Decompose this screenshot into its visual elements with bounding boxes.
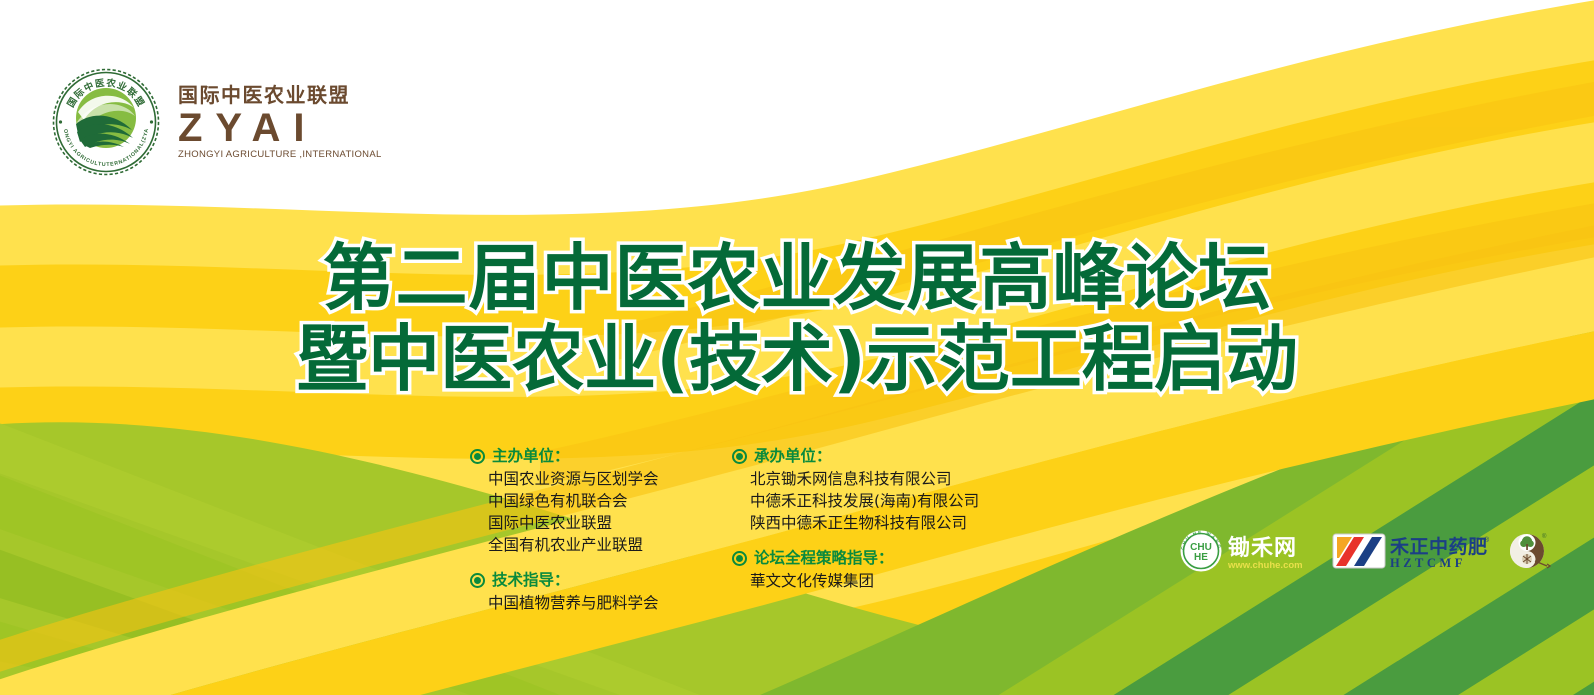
bullet-icon xyxy=(470,449,485,464)
info-column-left: 主办单位： 中国农业资源与区划学会 中国绿色有机联合会 国际中医农业联盟 全国有… xyxy=(470,446,732,614)
bullet-icon xyxy=(732,551,747,566)
logo-wordmark: 国际中医农业联盟 ZYAI ZHONGYI AGRICULTURE ,INTER… xyxy=(178,85,382,160)
info-item-list: 華文文化传媒集团 xyxy=(750,570,1032,592)
tree-yinyang-herbal-logo-icon: ® xyxy=(1506,528,1554,574)
info-group-strategy-guidance: 论坛全程策略指导： 華文文化传媒集团 xyxy=(732,548,1032,592)
svg-text:®: ® xyxy=(1484,536,1490,544)
svg-text:锄禾网: 锄禾网 xyxy=(1228,535,1297,561)
svg-text:HE: HE xyxy=(1194,552,1208,563)
sponsor-logos: CHU HE WANG CHU HE 锄禾网 www.chuhe.com 禾正中… xyxy=(1178,528,1554,574)
list-item: 陕西中德禾正生物科技有限公司 xyxy=(750,512,1032,534)
info-column-right: 承办单位： 北京锄禾网信息科技有限公司 中德禾正科技发展(海南)有限公司 陕西中… xyxy=(732,446,1032,614)
info-group-host: 主办单位： 中国农业资源与区划学会 中国绿色有机联合会 国际中医农业联盟 全国有… xyxy=(470,446,732,556)
list-item: 華文文化传媒集团 xyxy=(750,570,1032,592)
list-item: 中国绿色有机联合会 xyxy=(488,490,732,512)
svg-text:®: ® xyxy=(1542,533,1547,540)
event-banner: 国际中医农业联盟 ZHONGYI AGRICULTURE INTERNATION… xyxy=(0,0,1594,695)
info-item-list: 中国农业资源与区划学会 中国绿色有机联合会 国际中医农业联盟 全国有机农业产业联… xyxy=(488,468,732,556)
info-heading-label: 主办单位： xyxy=(492,446,570,467)
info-item-list: 中国植物营养与肥料学会 xyxy=(488,592,732,614)
zyai-seal-icon: 国际中医农业联盟 ZHONGYI AGRICULTURE INTERNATION… xyxy=(52,68,160,176)
info-heading-label: 技术指导： xyxy=(492,570,570,591)
info-heading: 承办单位： xyxy=(732,446,1032,467)
svg-text:www.chuhe.com: www.chuhe.com xyxy=(1227,560,1303,571)
bullet-icon xyxy=(470,573,485,588)
info-heading: 技术指导： xyxy=(470,570,732,591)
list-item: 全国有机农业产业联盟 xyxy=(488,534,732,556)
list-item: 中国植物营养与肥料学会 xyxy=(488,592,732,614)
logo-name-cn: 国际中医农业联盟 xyxy=(178,85,382,105)
logo-name-en: ZHONGYI AGRICULTURE ,INTERNATIONAL xyxy=(178,150,382,160)
organizer-info: 主办单位： 中国农业资源与区划学会 中国绿色有机联合会 国际中医农业联盟 全国有… xyxy=(470,446,1032,614)
info-heading: 论坛全程策略指导： xyxy=(732,548,1032,569)
list-item: 中国农业资源与区划学会 xyxy=(488,468,732,490)
info-group-organizer: 承办单位： 北京锄禾网信息科技有限公司 中德禾正科技发展(海南)有限公司 陕西中… xyxy=(732,446,1032,534)
hezheng-tcmf-logo-icon: 禾正中药肥 ® HZTCMF xyxy=(1332,528,1492,574)
info-item-list: 北京锄禾网信息科技有限公司 中德禾正科技发展(海南)有限公司 陕西中德禾正生物科… xyxy=(750,468,1032,534)
organization-logo: 国际中医农业联盟 ZHONGYI AGRICULTURE INTERNATION… xyxy=(52,68,382,176)
svg-text:HZTCMF: HZTCMF xyxy=(1390,556,1466,570)
chuhe-wang-logo-icon: CHU HE WANG CHU HE 锄禾网 www.chuhe.com xyxy=(1178,528,1318,574)
info-group-technical-guidance: 技术指导： 中国植物营养与肥料学会 xyxy=(470,570,732,614)
list-item: 北京锄禾网信息科技有限公司 xyxy=(750,468,1032,490)
info-heading: 主办单位： xyxy=(470,446,732,467)
list-item: 国际中医农业联盟 xyxy=(488,512,732,534)
bullet-icon xyxy=(732,449,747,464)
info-heading-label: 论坛全程策略指导： xyxy=(754,548,894,569)
svg-text:禾正中药肥: 禾正中药肥 xyxy=(1390,535,1488,558)
list-item: 中德禾正科技发展(海南)有限公司 xyxy=(750,490,1032,512)
info-heading-label: 承办单位： xyxy=(754,446,832,467)
logo-acronym: ZYAI xyxy=(178,108,382,148)
